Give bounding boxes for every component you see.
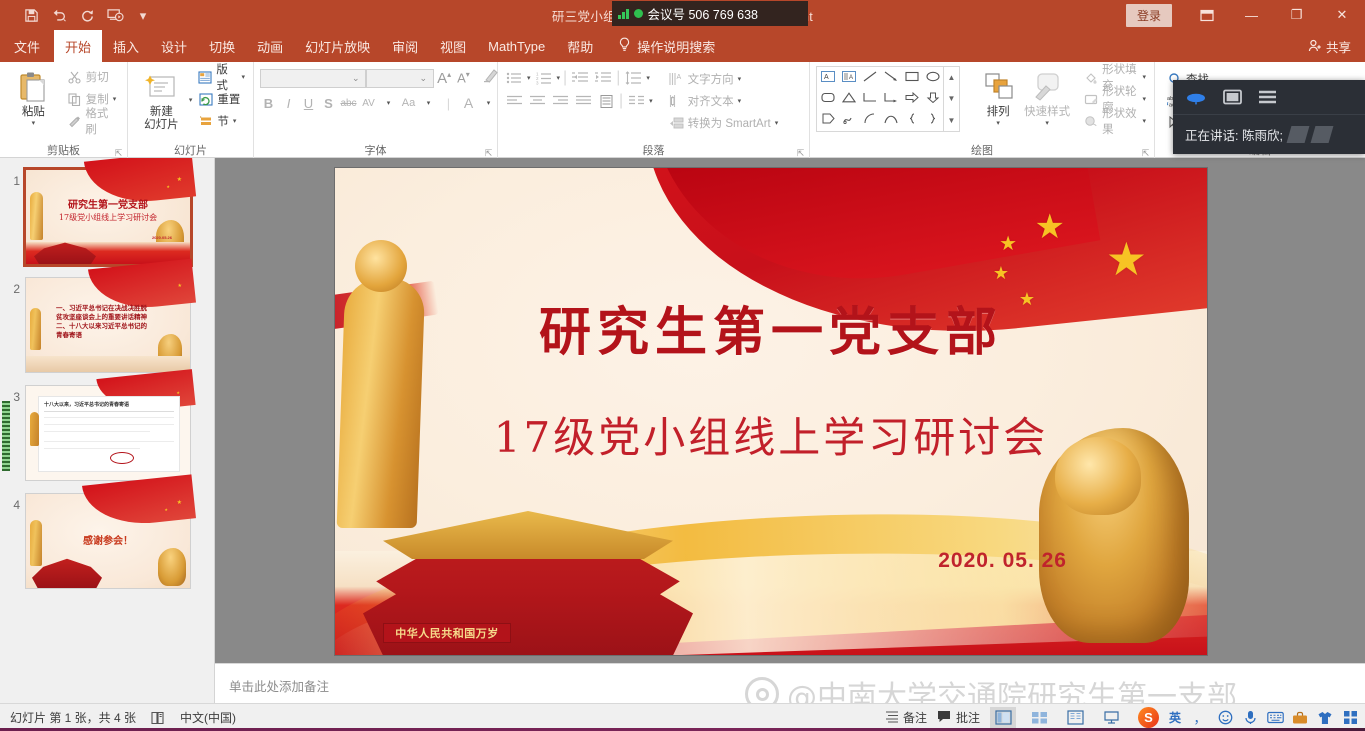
- ribbon: 粘贴 ▾ 剪切 复制 ▾: [0, 62, 1365, 158]
- align-center-icon[interactable]: [527, 91, 547, 111]
- thumbnail-number: 2: [0, 278, 26, 296]
- bold-button[interactable]: B: [260, 93, 277, 113]
- tab-insert[interactable]: 插入: [102, 30, 150, 62]
- underline-button[interactable]: U: [300, 93, 317, 113]
- drawing-dialog-launcher[interactable]: ⇱: [1141, 148, 1150, 157]
- thumbnail-line-4: 青春寄语: [56, 331, 184, 340]
- shape-effects-caret[interactable]: ▾: [1142, 117, 1146, 125]
- notes-label: 备注: [903, 709, 927, 726]
- slide-thumbnail-pane[interactable]: 1 ★ ★ 研究生第一党支部 17级党小组线上学习研讨会 2020.05.26 …: [0, 158, 215, 703]
- ribbon-group-clipboard: 粘贴 ▾ 剪切 复制 ▾: [0, 62, 128, 158]
- sogou-ime-icon[interactable]: S: [1138, 707, 1159, 728]
- tab-file[interactable]: 文件: [0, 30, 54, 62]
- paste-button[interactable]: 粘贴 ▾: [6, 66, 61, 127]
- bullets-caret[interactable]: ▾: [527, 74, 531, 82]
- numbering-caret[interactable]: ▾: [557, 74, 561, 82]
- font-style-row: B I U S abc AV ▾ Aa ▾ | A ▾: [260, 88, 497, 113]
- arrange-caret[interactable]: ▾: [996, 119, 1000, 127]
- thumbnail-slide-1[interactable]: 1 ★ ★ 研究生第一党支部 17级党小组线上学习研讨会 2020.05.26: [0, 170, 190, 264]
- reset-button[interactable]: 重置: [196, 88, 247, 110]
- paragraph-text-buttons: A 文字方向 ▾ 对齐文本 ▾: [653, 68, 781, 134]
- svg-text:A: A: [676, 74, 681, 81]
- font-dialog-launcher[interactable]: ⇱: [484, 148, 493, 157]
- shape-effects-label: 形状效果: [1102, 105, 1138, 137]
- paste-label: 粘贴: [22, 106, 45, 119]
- font-size-caret[interactable]: ⌄: [420, 73, 428, 84]
- flag-star-small-2-icon: ★: [993, 264, 1009, 282]
- shape-fill-caret[interactable]: ▾: [1142, 73, 1146, 81]
- quick-styles-label: 快速样式: [1024, 106, 1070, 119]
- cut-button[interactable]: 剪切: [65, 66, 121, 88]
- menu-icon[interactable]: [1258, 90, 1277, 104]
- share-label: 共享: [1326, 37, 1351, 56]
- toolbox-icon[interactable]: [1291, 709, 1309, 727]
- meeting-floating-toolbar[interactable]: 正在讲话: 陈雨欣;: [1173, 80, 1365, 154]
- tab-slideshow[interactable]: 幻灯片放映: [294, 30, 381, 62]
- strikethrough-button[interactable]: abc: [340, 93, 357, 113]
- svg-text:A: A: [824, 74, 829, 81]
- thumbnail-subtitle: 17级党小组线上学习研讨会: [26, 212, 190, 223]
- shape-right-arrow-icon[interactable]: [905, 90, 919, 108]
- accessibility-check-icon[interactable]: [150, 711, 166, 725]
- slide-title[interactable]: 研究生第一党支部: [335, 290, 1207, 365]
- thumbnail-number: 3: [0, 386, 26, 404]
- gate-banner-text: 中华人民共和国万岁: [383, 623, 511, 643]
- quick-styles-caret[interactable]: ▾: [1045, 119, 1049, 127]
- shape-outline-caret[interactable]: ▾: [1142, 95, 1146, 103]
- normal-view-icon[interactable]: [990, 707, 1016, 729]
- thumbnail-heading: 十八大以来，习近平总书记的青春寄语: [44, 401, 129, 408]
- paragraph-buttons: ▾ 123 ▾ | |: [504, 68, 653, 111]
- shape-line-icon[interactable]: [863, 69, 877, 87]
- svg-text:A: A: [849, 75, 853, 81]
- shape-rectangle-icon[interactable]: [905, 69, 919, 87]
- text-direction-icon: A: [669, 72, 684, 87]
- shape-effects-icon: [1084, 114, 1098, 129]
- thumbnail-number: 1: [0, 170, 26, 188]
- font-color-button[interactable]: A: [460, 93, 477, 113]
- quick-styles-button[interactable]: 快速样式 ▾: [1022, 66, 1072, 127]
- powerpoint-window: ▾ 研三党小组线上学习研讨会.pptx - PowerPoint 会议号 506…: [0, 0, 1365, 731]
- thumbnail-line-2: 贫攻坚座谈会上的重要讲话精神: [56, 313, 184, 322]
- thumbnail-image[interactable]: ★ 一、习近平总书记在决战决胜脱 贫攻坚座谈会上的重要讲话精神 二、十八大以来习…: [26, 278, 190, 372]
- tab-view[interactable]: 视图: [429, 30, 477, 62]
- line-spacing-icon[interactable]: [623, 68, 643, 88]
- tab-review[interactable]: 审阅: [381, 30, 429, 62]
- section-icon: [198, 114, 213, 129]
- thumbnail-number: 4: [0, 494, 26, 512]
- shape-scribble-icon[interactable]: [842, 111, 856, 129]
- smartart-label: 转换为 SmartArt: [688, 115, 771, 131]
- clear-formatting-icon[interactable]: [482, 68, 499, 88]
- text-direction-button[interactable]: A 文字方向 ▾: [667, 68, 781, 90]
- section-caret[interactable]: ▾: [233, 117, 237, 125]
- tell-me-label: 操作说明搜索: [637, 37, 715, 56]
- meeting-id-chip[interactable]: 会议号 506 769 638: [612, 1, 808, 26]
- paste-icon: [18, 68, 48, 106]
- clipboard-dialog-launcher[interactable]: ⇱: [114, 148, 123, 157]
- tab-animations[interactable]: 动画: [246, 30, 294, 62]
- close-button[interactable]: ✕: [1319, 0, 1365, 30]
- apps-icon[interactable]: [1341, 709, 1359, 727]
- shape-arc-icon[interactable]: [863, 111, 877, 129]
- annotate-pen-icon[interactable]: [1185, 89, 1207, 105]
- share-person-icon: [1308, 39, 1322, 55]
- copy-caret[interactable]: ▾: [113, 95, 117, 103]
- shape-rounded-rect-icon[interactable]: [821, 90, 835, 108]
- tab-design[interactable]: 设计: [150, 30, 198, 62]
- thumbnail-title: 感谢参会！: [26, 532, 190, 547]
- scissors-icon: [67, 70, 82, 85]
- thumbnail-slide-2[interactable]: 2 ★ 一、习近平总书记在决战决胜脱 贫攻坚座谈会上的重要讲话精神 二、十八大以…: [0, 278, 190, 372]
- signin-button[interactable]: 登录: [1126, 4, 1172, 27]
- start-slideshow-icon[interactable]: [102, 3, 128, 27]
- language-label[interactable]: 中文(中国): [180, 709, 236, 726]
- notes-pane[interactable]: 单击此处添加备注: [215, 663, 1365, 703]
- ribbon-group-slides: 新建幻灯片 ▾ 版式 ▾: [128, 62, 254, 158]
- font-controls-row: ⌄ ⌄ A▴ A▾: [260, 68, 499, 88]
- align-text-caret[interactable]: ▾: [738, 97, 742, 105]
- meeting-id-label: 会议号 506 769 638: [648, 4, 759, 23]
- quick-access-toolbar: ▾: [0, 3, 156, 27]
- bullets-icon[interactable]: [504, 68, 524, 88]
- notes-toggle-button[interactable]: 备注: [885, 709, 927, 726]
- skin-icon[interactable]: [1316, 709, 1334, 727]
- italic-button[interactable]: I: [280, 93, 297, 113]
- drawing-group-title: 绘图 ⇱: [810, 142, 1154, 158]
- shape-pentagon-icon[interactable]: [821, 111, 835, 129]
- font-group-title: 字体 ⇱: [254, 142, 497, 158]
- change-case-caret[interactable]: ▾: [420, 93, 437, 113]
- change-case-button[interactable]: Aa: [400, 93, 417, 113]
- undo-icon[interactable]: [46, 3, 72, 27]
- section-button[interactable]: 节 ▾: [196, 110, 247, 132]
- text-direction-caret[interactable]: ▾: [738, 75, 742, 83]
- layout-icon: [198, 70, 212, 85]
- soft-keyboard-icon[interactable]: [1266, 709, 1284, 727]
- align-left-icon[interactable]: [504, 91, 524, 111]
- arrange-button[interactable]: 排列 ▾: [974, 66, 1022, 127]
- shape-vertical-textbox-icon[interactable]: A: [842, 69, 856, 87]
- clipboard-small-buttons: 剪切 复制 ▾ 格式刷: [61, 66, 121, 132]
- section-label: 节: [217, 113, 229, 129]
- share-button[interactable]: 共享: [1308, 37, 1351, 56]
- maximize-button[interactable]: ❐: [1274, 0, 1319, 30]
- format-painter-button[interactable]: 格式刷: [65, 110, 121, 132]
- share-screen-icon[interactable]: [1223, 89, 1242, 106]
- notes-placeholder[interactable]: 单击此处添加备注: [215, 664, 1365, 695]
- reset-icon: [198, 92, 213, 107]
- slide-count-label: 幻灯片 第 1 张，共 4 张: [10, 709, 136, 726]
- numbering-icon[interactable]: 123: [534, 68, 554, 88]
- speaking-label: 正在讲话: 陈雨欣;: [1185, 125, 1283, 144]
- lightbulb-icon: [618, 37, 631, 55]
- slide-canvas-area: ★ ★ ★ ★ ★ 中华人民共和国万岁 研究生第一党支部 17级党小组线上学习研…: [215, 158, 1365, 663]
- green-dot-icon: [634, 9, 643, 18]
- minimize-button[interactable]: —: [1229, 0, 1274, 30]
- title-bar: ▾ 研三党小组线上学习研讨会.pptx - PowerPoint 会议号 506…: [0, 0, 1365, 30]
- thumbnail-line-3: 二、十八大以来习近平总书记的: [56, 322, 184, 331]
- copy-icon: [67, 92, 82, 107]
- slides-group-title: 幻灯片: [128, 142, 253, 158]
- shape-left-brace-icon[interactable]: [905, 111, 919, 129]
- align-text-icon: [669, 94, 684, 109]
- character-spacing-button[interactable]: AV: [360, 93, 377, 113]
- columns-icon[interactable]: [626, 91, 646, 111]
- reading-view-icon[interactable]: [1062, 707, 1088, 729]
- format-painter-label: 格式刷: [85, 105, 119, 137]
- flag-star-large-icon: ★: [1035, 210, 1065, 244]
- huabiao-top-icon: [355, 240, 407, 292]
- ime-mode-icon[interactable]: 英: [1166, 709, 1184, 727]
- paragraph-dialog-launcher[interactable]: ⇱: [796, 148, 805, 157]
- shape-down-arrow-icon[interactable]: [926, 90, 940, 108]
- thumbnail-title: 研究生第一党支部: [26, 196, 190, 211]
- align-text-label: 对齐文本: [688, 93, 734, 109]
- shapes-more-icon[interactable]: ▼: [948, 116, 956, 125]
- ribbon-display-options-icon[interactable]: [1184, 0, 1229, 30]
- shape-outline-icon: [1084, 92, 1098, 107]
- thumbnail-image[interactable]: ★ 十八大以来，习近平总书记的青春寄语: [26, 386, 190, 480]
- thumbnail-slide-3[interactable]: 3 ★ 十八大以来，习近平总书记的青春寄语: [0, 386, 190, 480]
- paragraph-row-1: ▾ 123 ▾ | |: [504, 68, 653, 88]
- punctuation-icon[interactable]: ，: [1191, 709, 1209, 727]
- shape-curve-icon[interactable]: [884, 111, 898, 129]
- title-bar-controls: 登录 — ❐ ✕: [1126, 0, 1365, 30]
- text-direction-label: 文字方向: [688, 71, 734, 87]
- shapes-gallery-wrap: A A: [816, 66, 960, 132]
- flag-star-small-1-icon: ★: [999, 234, 1017, 254]
- ribbon-group-drawing: A A: [810, 62, 1155, 158]
- slide-subtitle[interactable]: 17级党小组线上学习研讨会: [335, 404, 1207, 465]
- meeting-speaking-row: 正在讲话: 陈雨欣;: [1173, 114, 1365, 154]
- font-name-combobox[interactable]: [260, 69, 366, 88]
- layout-button[interactable]: 版式 ▾: [196, 66, 247, 88]
- tab-mathtype[interactable]: MathType: [477, 30, 556, 62]
- voice-input-icon[interactable]: [1241, 709, 1259, 727]
- notes-icon: [885, 710, 899, 726]
- shape-effects-button[interactable]: 形状效果 ▾: [1082, 110, 1148, 132]
- shape-right-brace-icon[interactable]: [926, 111, 940, 129]
- redo-icon[interactable]: [74, 3, 100, 27]
- shape-elbow-arrow-icon[interactable]: [884, 90, 898, 108]
- emoji-icon[interactable]: [1216, 709, 1234, 727]
- align-text-button[interactable]: 对齐文本 ▾: [667, 90, 781, 112]
- thumbnail-image[interactable]: ★ ★ 研究生第一党支部 17级党小组线上学习研讨会 2020.05.26: [26, 170, 190, 264]
- blurred-name-chip-2: [1310, 126, 1333, 143]
- increase-indent-icon[interactable]: [593, 68, 613, 88]
- thumbnail-image[interactable]: ★ ★ 感谢参会！: [26, 494, 190, 588]
- current-slide[interactable]: ★ ★ ★ ★ ★ 中华人民共和国万岁 研究生第一党支部 17级党小组线上学习研…: [335, 168, 1207, 655]
- font-divider: |: [440, 93, 457, 113]
- shapes-gallery-scrollbar[interactable]: ▲ ▼ ▼: [944, 66, 960, 132]
- align-right-icon[interactable]: [550, 91, 570, 111]
- thumbnail-line-1: 一、习近平总书记在决战决胜脱: [56, 304, 184, 313]
- ribbon-group-paragraph: ▾ 123 ▾ | |: [498, 62, 810, 158]
- slides-small-buttons: 版式 ▾ 重置 节 ▾: [192, 66, 247, 132]
- new-slide-button[interactable]: 新建幻灯片: [134, 66, 189, 132]
- distribute-icon[interactable]: [596, 91, 616, 111]
- slide-sorter-icon[interactable]: [1026, 707, 1052, 729]
- comments-label: 批注: [956, 709, 980, 726]
- shape-format-buttons: 形状填充 ▾ 形状轮廓 ▾ 形状效果: [1072, 66, 1148, 132]
- shape-triangle-icon[interactable]: [842, 90, 856, 108]
- svg-text:3: 3: [536, 81, 539, 86]
- reset-label: 重置: [217, 91, 240, 107]
- arrange-icon: [981, 68, 1015, 106]
- blurred-name-chip-1: [1286, 126, 1309, 143]
- clipboard-group-title: 剪贴板 ⇱: [0, 142, 127, 158]
- paragraph-row-2: | ▾: [504, 91, 653, 111]
- shape-arrow-icon[interactable]: [884, 69, 898, 87]
- new-slide-label: 新建幻灯片: [144, 106, 179, 132]
- arrange-label: 排列: [987, 106, 1010, 119]
- decrease-font-size-icon[interactable]: A▾: [457, 70, 470, 85]
- signal-bars-icon: [618, 8, 629, 19]
- layout-caret[interactable]: ▾: [241, 73, 245, 81]
- shadow-button[interactable]: S: [320, 93, 337, 113]
- thumbnail-date: 2020.05.26: [152, 235, 172, 240]
- decrease-indent-icon[interactable]: [570, 68, 590, 88]
- font-name-caret[interactable]: ⌄: [352, 73, 360, 84]
- increase-font-size-icon[interactable]: A▴: [437, 70, 451, 87]
- paste-dropdown-caret[interactable]: ▾: [32, 119, 36, 127]
- character-spacing-caret[interactable]: ▾: [380, 93, 397, 113]
- thumbnail-slide-4[interactable]: 4 ★ ★ 感谢参会！: [0, 494, 190, 588]
- smartart-icon: [669, 116, 684, 131]
- shape-oval-icon[interactable]: [926, 69, 940, 87]
- shape-textbox-icon[interactable]: A: [821, 69, 835, 87]
- new-slide-icon: [145, 68, 177, 106]
- smartart-caret[interactable]: ▾: [775, 119, 779, 127]
- paragraph-group-title: 段落 ⇱: [498, 142, 809, 158]
- convert-smartart-button[interactable]: 转换为 SmartArt ▾: [667, 112, 781, 134]
- slide-date[interactable]: 2020. 05. 26: [938, 549, 1067, 573]
- comment-icon: [937, 710, 952, 726]
- format-painter-icon: [67, 114, 82, 129]
- shapes-gallery[interactable]: A A: [816, 66, 944, 132]
- tab-help[interactable]: 帮助: [556, 30, 604, 62]
- quick-styles-icon: [1030, 68, 1064, 106]
- font-color-caret[interactable]: ▾: [480, 93, 497, 113]
- shape-fill-icon: [1084, 70, 1098, 85]
- status-bar: 幻灯片 第 1 张，共 4 张 中文(中国) 备注 批注: [0, 703, 1365, 731]
- shape-elbow-connector-icon[interactable]: [863, 90, 877, 108]
- cut-label: 剪切: [86, 69, 109, 85]
- tell-me-box[interactable]: 操作说明搜索: [604, 30, 726, 62]
- comments-toggle-button[interactable]: 批注: [937, 709, 980, 726]
- ribbon-tab-bar: 文件 开始 插入 设计 切换 动画 幻灯片放映 审阅 视图 MathType 帮…: [0, 30, 1365, 62]
- justify-icon[interactable]: [573, 91, 593, 111]
- slideshow-view-icon[interactable]: [1098, 707, 1124, 729]
- meeting-tool-row: [1173, 80, 1365, 114]
- status-left: 幻灯片 第 1 张，共 4 张 中文(中国): [0, 709, 236, 726]
- line-spacing-caret[interactable]: ▾: [646, 74, 650, 82]
- status-right: 备注 批注 S 英 ，: [885, 707, 1365, 729]
- flag-star-big-icon: ★: [1106, 236, 1147, 282]
- shapes-scroll-down-icon[interactable]: ▼: [948, 94, 956, 103]
- system-tray: S 英 ，: [1134, 707, 1359, 728]
- customize-qat-icon[interactable]: ▾: [130, 3, 156, 27]
- ribbon-group-font: ⌄ ⌄ A▴ A▾ B I U S abc AV ▾: [254, 62, 498, 158]
- tab-home[interactable]: 开始: [54, 30, 102, 62]
- shapes-scroll-up-icon[interactable]: ▲: [948, 73, 956, 82]
- save-icon[interactable]: [18, 3, 44, 27]
- tab-transitions[interactable]: 切换: [198, 30, 246, 62]
